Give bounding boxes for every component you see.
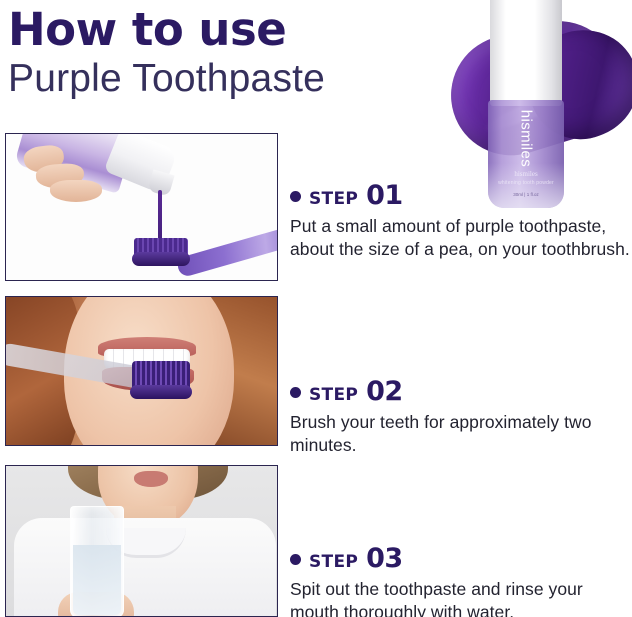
bottle-label-line1: hismiles (488, 170, 564, 178)
bullet-icon (290, 191, 301, 202)
step-heading: STEP 03 (290, 545, 632, 572)
step-label: STEP (309, 189, 358, 209)
step-number: 02 (366, 378, 403, 405)
photo-rinse-water (5, 465, 278, 617)
step-description: Put a small amount of purple toothpaste,… (290, 215, 632, 261)
finger-shape (50, 180, 102, 202)
product-hero-image: hismiles hismiles whitening tooth powder… (432, 0, 632, 210)
step-heading: STEP 02 (290, 378, 632, 405)
toothbrush-head-shape (132, 252, 190, 266)
bottle-cap (490, 0, 562, 106)
toothbrush-head-shape (130, 385, 192, 399)
step-label: STEP (309, 552, 358, 572)
step-item-1: STEP 01 Put a small amount of purple too… (290, 182, 632, 261)
step-description: Brush your teeth for approximately two m… (290, 411, 632, 457)
page-title: How to use (8, 6, 438, 54)
step-heading: STEP 01 (290, 182, 632, 209)
lips-shape (134, 471, 168, 487)
photo-dispense-toothpaste (5, 133, 278, 281)
step-number: 01 (366, 182, 403, 209)
step-description: Spit out the toothpaste and rinse your m… (290, 578, 632, 617)
water-glass-shape (70, 506, 124, 616)
step-item-2: STEP 02 Brush your teeth for approximate… (290, 378, 632, 457)
brand-label: hismiles (518, 110, 535, 167)
page-subtitle: Purple Toothpaste (8, 56, 438, 102)
product-bottle: hismiles hismiles whitening tooth powder… (488, 0, 564, 210)
bullet-icon (290, 387, 301, 398)
photo-brushing-teeth (5, 296, 278, 446)
step-label: STEP (309, 385, 358, 405)
water-shape (73, 545, 121, 615)
step-number: 03 (366, 545, 403, 572)
bullet-icon (290, 554, 301, 565)
step-item-3: STEP 03 Spit out the toothpaste and rins… (290, 545, 632, 617)
page-header: How to use Purple Toothpaste (8, 6, 438, 102)
how-to-use-infographic: How to use Purple Toothpaste hismiles hi… (0, 0, 632, 617)
